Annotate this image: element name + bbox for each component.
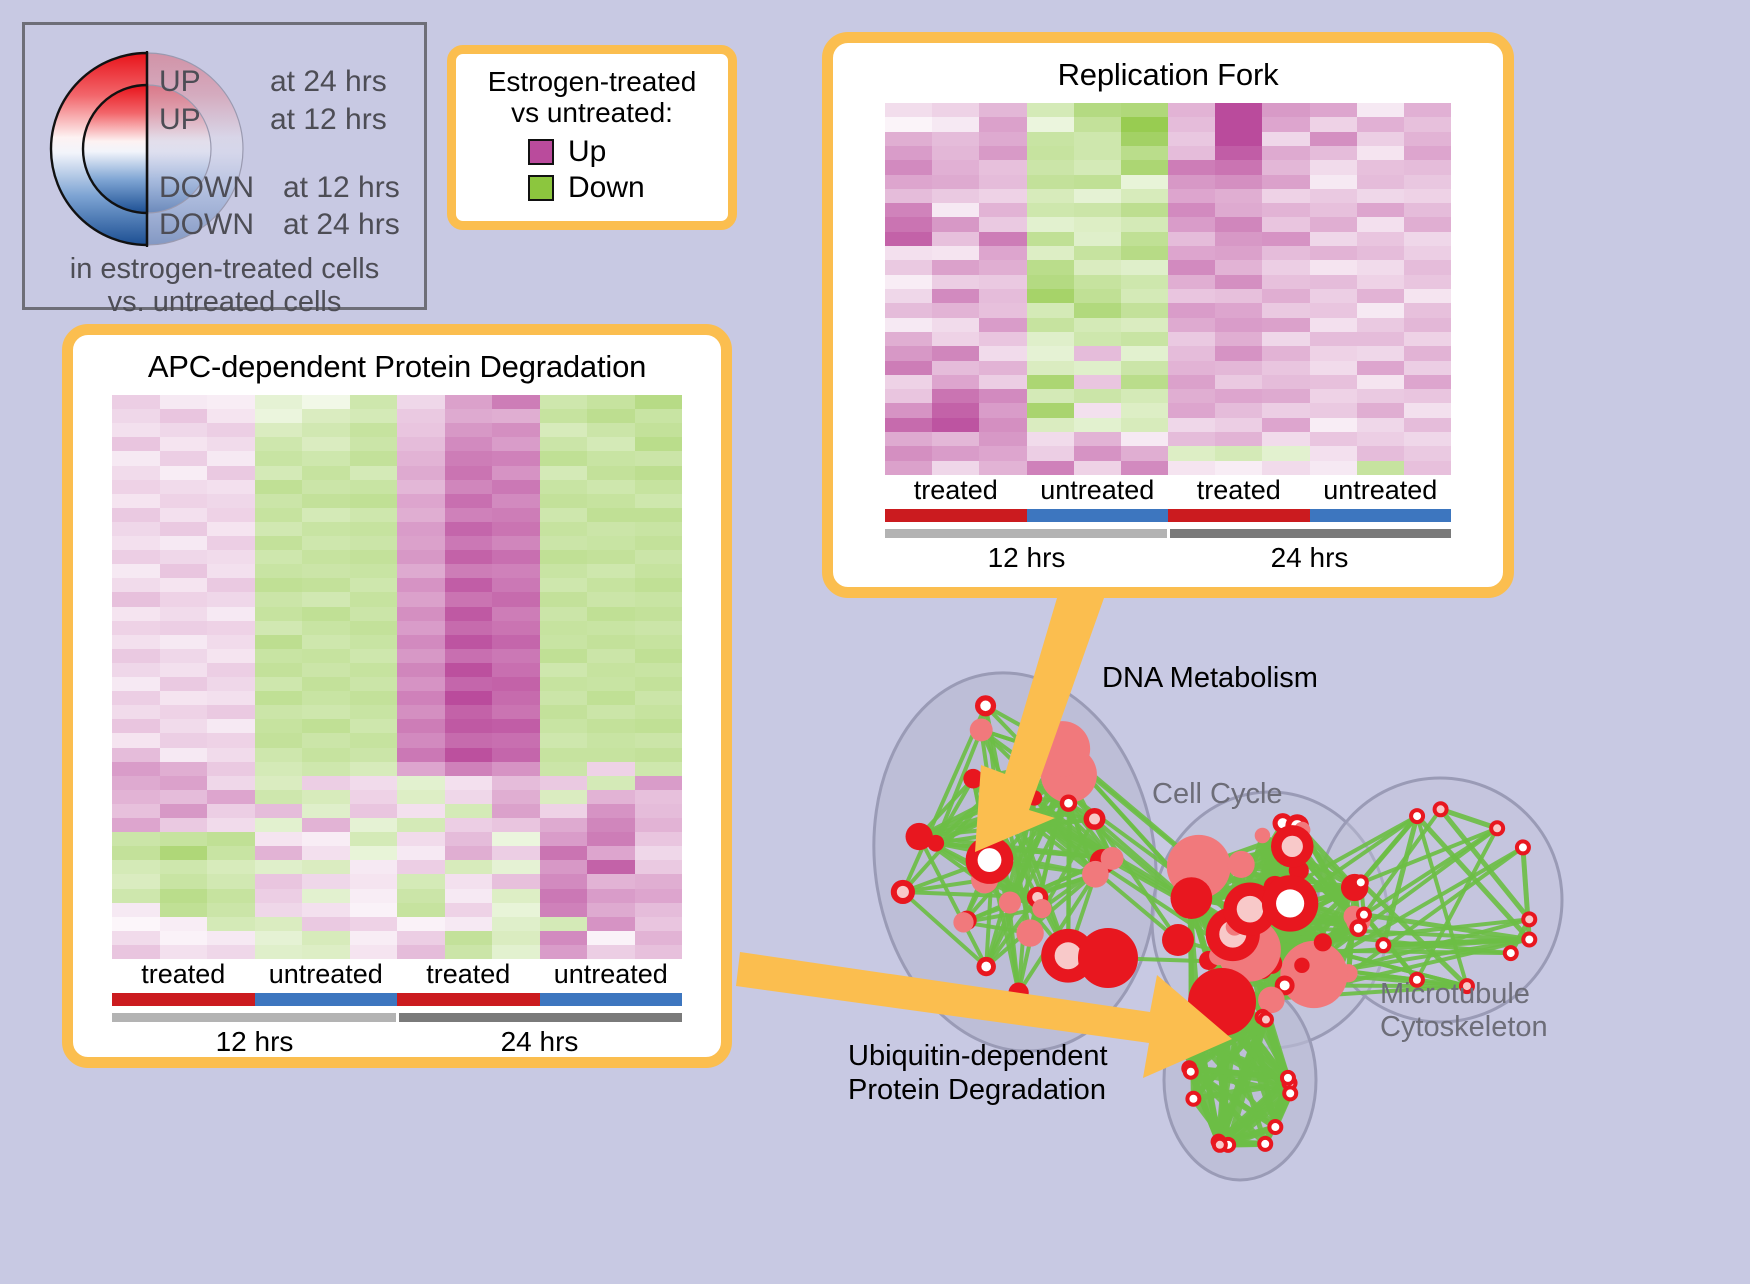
heatmap-cell: [350, 423, 398, 437]
heatmap-cell: [587, 621, 635, 635]
heatmap-cell: [302, 508, 350, 522]
heatmap-cell: [979, 418, 1026, 432]
heatmap-cell: [350, 522, 398, 536]
heatmap-cell: [350, 860, 398, 874]
heatmap-cell: [445, 691, 493, 705]
heatmap-replication-fork: [885, 103, 1451, 475]
heatmap-cell: [540, 578, 588, 592]
heatmap-cell: [255, 522, 303, 536]
heatmap-cell: [1404, 146, 1451, 160]
heatmap-cell: [635, 578, 683, 592]
heatmap-cell: [112, 945, 160, 959]
bar-time-12hrs: [112, 1013, 396, 1022]
heatmap-cell: [350, 733, 398, 747]
heatmap-cell: [255, 635, 303, 649]
heatmap-cell: [445, 804, 493, 818]
heatmap-cell: [635, 480, 683, 494]
heatmap-cell: [112, 536, 160, 550]
heatmap-cell: [587, 592, 635, 606]
heatmap-cell: [492, 522, 540, 536]
network-node-center: [980, 701, 991, 712]
heatmap-cell: [302, 621, 350, 635]
heatmap-cell: [1215, 432, 1262, 446]
heatmap-cell: [207, 846, 255, 860]
heatmap-cell: [979, 346, 1026, 360]
heatmap-cell: [587, 409, 635, 423]
heatmap-cell: [207, 762, 255, 776]
heatmap-cell: [1074, 389, 1121, 403]
heatmap-cell: [979, 203, 1026, 217]
updown-legend-items: Up Down: [470, 135, 714, 205]
heatmap-cell: [255, 804, 303, 818]
network-node: [983, 774, 1010, 801]
updown-title-line2: vs untreated:: [470, 97, 714, 128]
heatmap-cell: [492, 705, 540, 719]
axis-label-treated-24: treated: [397, 959, 540, 990]
heatmap-cell: [1310, 146, 1357, 160]
heatmap-cell: [932, 432, 979, 446]
axis-group-labels: treated untreated treated untreated: [885, 475, 1451, 506]
network-node: [1035, 721, 1090, 776]
heatmap-cell: [160, 804, 208, 818]
heatmap-cell: [1168, 117, 1215, 131]
network-node: [1228, 851, 1255, 878]
heatmap-cell: [635, 860, 683, 874]
network-node-center: [1357, 878, 1365, 886]
heatmap-cell: [540, 607, 588, 621]
heatmap-cell: [302, 663, 350, 677]
heatmap-cell: [255, 649, 303, 663]
heatmap-cell: [160, 522, 208, 536]
heatmap-cell: [932, 289, 979, 303]
heatmap-cell: [1357, 389, 1404, 403]
heatmap-cell: [1121, 189, 1168, 203]
heatmap-cell: [635, 733, 683, 747]
heatmap-cell: [1310, 189, 1357, 203]
heatmap-cell: [540, 719, 588, 733]
heatmap-cell: [160, 677, 208, 691]
heatmap-cell: [255, 564, 303, 578]
network-node-center: [1055, 942, 1082, 969]
heatmap-cell: [112, 649, 160, 663]
heatmap-cell: [397, 522, 445, 536]
bar-treated-12: [112, 993, 255, 1006]
heatmap-cell: [492, 423, 540, 437]
heatmap-cell: [445, 677, 493, 691]
heatmap-cell: [397, 635, 445, 649]
heatmap-cell: [397, 508, 445, 522]
heatmap-cell: [885, 418, 932, 432]
heatmap-cell: [932, 217, 979, 231]
bar-treated-24: [1168, 509, 1310, 522]
heatmap-cell: [932, 461, 979, 475]
color-scale-legend: UP at 24 hrs UP at 12 hrs DOWN at 12 hrs…: [22, 22, 427, 310]
heatmap-cell: [397, 550, 445, 564]
bar-time-12hrs: [885, 529, 1167, 538]
heatmap-cell: [1027, 418, 1074, 432]
heatmap-cell: [207, 508, 255, 522]
heatmap-cell: [635, 607, 683, 621]
heatmap-cell: [112, 395, 160, 409]
heatmap-cell: [587, 832, 635, 846]
heatmap-cell: [885, 403, 932, 417]
heatmap-cell: [302, 592, 350, 606]
heatmap-cell: [540, 917, 588, 931]
heatmap-cell: [1357, 403, 1404, 417]
heatmap-cell: [350, 790, 398, 804]
axis-label-untreated-24: untreated: [1310, 475, 1452, 506]
heatmap-cell: [302, 437, 350, 451]
axis-label-untreated-12: untreated: [255, 959, 398, 990]
up-color-swatch: [528, 139, 554, 165]
heatmap-cell: [1262, 403, 1309, 417]
heatmap-cell: [302, 776, 350, 790]
heatmap-cell: [540, 818, 588, 832]
heatmap-cell: [1215, 175, 1262, 189]
heatmap-cell: [302, 466, 350, 480]
heatmap-cell: [302, 889, 350, 903]
heatmap-cell: [255, 889, 303, 903]
heatmap-cell: [1310, 418, 1357, 432]
heatmap-cell: [540, 762, 588, 776]
heatmap-cell: [587, 437, 635, 451]
heatmap-cell: [492, 550, 540, 564]
heatmap-cell: [1404, 318, 1451, 332]
heatmap-cell: [587, 423, 635, 437]
heatmap-cell: [540, 635, 588, 649]
heatmap-cell: [1215, 375, 1262, 389]
heatmap-cell: [492, 945, 540, 959]
heatmap-cell: [492, 860, 540, 874]
heatmap-cell: [445, 889, 493, 903]
heatmap-cell: [885, 160, 932, 174]
heatmap-cell: [885, 260, 932, 274]
heatmap-cell: [160, 592, 208, 606]
heatmap-cell: [255, 748, 303, 762]
heatmap-cell: [540, 748, 588, 762]
heatmap-cell: [885, 332, 932, 346]
heatmap-cell: [1310, 346, 1357, 360]
heatmap-cell: [1168, 389, 1215, 403]
heatmap-cell: [302, 733, 350, 747]
heatmap-cell: [1027, 103, 1074, 117]
heatmap-cell: [207, 748, 255, 762]
heatmap-cell: [255, 846, 303, 860]
legend-item-down: Down: [528, 171, 714, 205]
heatmap-cell: [160, 719, 208, 733]
heatmap-cell: [1074, 189, 1121, 203]
heatmap-cell: [350, 931, 398, 945]
heatmap-cell: [932, 246, 979, 260]
axis-apc-degradation: treated untreated treated untreated 12 h…: [112, 959, 682, 1058]
heatmap-cell: [302, 945, 350, 959]
heatmap-cell: [255, 705, 303, 719]
heatmap-cell: [492, 663, 540, 677]
heatmap-cell: [1168, 203, 1215, 217]
heatmap-cell: [112, 423, 160, 437]
axis-time-labels: 12 hrs 24 hrs: [885, 542, 1451, 574]
heatmap-cell: [932, 132, 979, 146]
heatmap-cell: [445, 466, 493, 480]
heatmap-cell: [350, 804, 398, 818]
heatmap-cell: [932, 346, 979, 360]
heatmap-cell: [885, 103, 932, 117]
heatmap-cell: [1074, 132, 1121, 146]
heatmap-cell: [1168, 175, 1215, 189]
panel-apc-degradation: APC-dependent Protein Degradation treate…: [62, 324, 732, 1068]
heatmap-cell: [492, 804, 540, 818]
heatmap-cell: [587, 508, 635, 522]
heatmap-cell: [302, 451, 350, 465]
heatmap-cell: [540, 846, 588, 860]
bar-untreated-12: [255, 993, 398, 1006]
heatmap-cell: [255, 874, 303, 888]
heatmap-cell: [1357, 461, 1404, 475]
heatmap-cell: [979, 117, 1026, 131]
heatmap-cell: [540, 804, 588, 818]
up-down-legend-box: Estrogen-treated vs untreated: Up Down: [447, 45, 737, 230]
heatmap-cell: [160, 776, 208, 790]
heatmap-cell: [1168, 189, 1215, 203]
heatmap-cell: [635, 691, 683, 705]
heatmap-cell: [302, 423, 350, 437]
heatmap-cell: [885, 289, 932, 303]
heatmap-cell: [885, 446, 932, 460]
heatmap-cell: [492, 536, 540, 550]
network-node-center: [1286, 1089, 1294, 1097]
heatmap-cell: [885, 318, 932, 332]
heatmap-cell: [112, 677, 160, 691]
heatmap-cell: [302, 564, 350, 578]
heatmap-cell: [1310, 217, 1357, 231]
heatmap-cell: [255, 423, 303, 437]
heatmap-cell: [160, 762, 208, 776]
heatmap-cell: [1027, 260, 1074, 274]
network-node: [1008, 982, 1028, 1002]
heatmap-cell: [397, 423, 445, 437]
heatmap-cell: [587, 578, 635, 592]
network-node-center: [1089, 813, 1100, 824]
heatmap-cell: [112, 409, 160, 423]
heatmap-cell: [397, 607, 445, 621]
heatmap-cell: [350, 832, 398, 846]
heatmap-cell: [1121, 461, 1168, 475]
heatmap-cell: [1027, 146, 1074, 160]
heatmap-cell: [160, 832, 208, 846]
heatmap-cell: [1404, 103, 1451, 117]
heatmap-cell: [932, 103, 979, 117]
heatmap-cell: [445, 409, 493, 423]
heatmap-cell: [1262, 146, 1309, 160]
heatmap-cell: [540, 536, 588, 550]
heatmap-cell: [302, 790, 350, 804]
heatmap-cell: [635, 748, 683, 762]
heatmap-cell: [1168, 160, 1215, 174]
heatmap-cell: [1357, 246, 1404, 260]
heatmap-cell: [160, 917, 208, 931]
heatmap-cell: [885, 246, 932, 260]
network-node-center: [1280, 980, 1290, 990]
heatmap-cell: [635, 649, 683, 663]
heatmap-cell: [112, 917, 160, 931]
heatmap-cell: [397, 832, 445, 846]
heatmap-cell: [492, 649, 540, 663]
heatmap-cell: [1357, 217, 1404, 231]
heatmap-cell: [1357, 103, 1404, 117]
heatmap-cell: [1027, 175, 1074, 189]
heatmap-cell: [1027, 189, 1074, 203]
heatmap-cell: [979, 446, 1026, 460]
heatmap-cell: [207, 649, 255, 663]
heatmap-cell: [932, 332, 979, 346]
heatmap-cell: [540, 395, 588, 409]
heatmap-cell: [540, 832, 588, 846]
key-label-up-24hrs: UP: [159, 65, 201, 99]
heatmap-cell: [1168, 132, 1215, 146]
bar-treated-24: [397, 993, 540, 1006]
network-node-center: [1360, 911, 1368, 919]
heatmap-cell: [1121, 403, 1168, 417]
heatmap-cell: [885, 189, 932, 203]
heatmap-cell: [540, 564, 588, 578]
heatmap-cell: [492, 621, 540, 635]
heatmap-cell: [1121, 146, 1168, 160]
heatmap-cell: [1121, 332, 1168, 346]
heatmap-cell: [885, 146, 932, 160]
heatmap-cell: [1121, 289, 1168, 303]
network-node: [1294, 958, 1309, 973]
heatmap-cell: [635, 705, 683, 719]
heatmap-cell: [1357, 418, 1404, 432]
heatmap-cell: [1074, 146, 1121, 160]
heatmap-cell: [885, 361, 932, 375]
heatmap-cell: [445, 762, 493, 776]
heatmap-cell: [397, 889, 445, 903]
heatmap-cell: [1074, 246, 1121, 260]
heatmap-cell: [1404, 246, 1451, 260]
axis-label-untreated-12: untreated: [1027, 475, 1169, 506]
heatmap-cell: [540, 437, 588, 451]
legend-caption-line2: vs. untreated cells: [25, 286, 424, 319]
heatmap-cell: [397, 564, 445, 578]
heatmap-cell: [397, 437, 445, 451]
heatmap-cell: [1168, 275, 1215, 289]
cluster-label-ubiquitin-degradation: Ubiquitin-dependent Protein Degradation: [848, 1040, 1108, 1107]
heatmap-cell: [1074, 461, 1121, 475]
legend-item-up: Up: [528, 135, 714, 169]
heatmap-cell: [1310, 332, 1357, 346]
heatmap-cell: [1121, 203, 1168, 217]
heatmap-cell: [587, 494, 635, 508]
heatmap-cell: [1404, 303, 1451, 317]
network-node-center: [1261, 1140, 1269, 1148]
heatmap-cell: [1027, 403, 1074, 417]
heatmap-cell: [1168, 318, 1215, 332]
heatmap-cell: [1121, 217, 1168, 231]
heatmap-cell: [112, 592, 160, 606]
heatmap-cell: [1168, 432, 1215, 446]
heatmap-cell: [207, 663, 255, 677]
axis-label-untreated-24: untreated: [540, 959, 683, 990]
heatmap-cell: [1168, 246, 1215, 260]
bar-treated-12: [885, 509, 1027, 522]
heatmap-cell: [255, 917, 303, 931]
heatmap-cell: [112, 860, 160, 874]
heatmap-cell: [207, 931, 255, 945]
heatmap-cell: [587, 804, 635, 818]
heatmap-cell: [207, 395, 255, 409]
heatmap-cell: [1262, 375, 1309, 389]
heatmap-cell: [397, 451, 445, 465]
heatmap-cell: [397, 818, 445, 832]
heatmap-cell: [160, 649, 208, 663]
heatmap-cell: [112, 846, 160, 860]
heatmap-cell: [540, 423, 588, 437]
heatmap-cell: [1310, 461, 1357, 475]
heatmap-cell: [160, 451, 208, 465]
heatmap-cell: [635, 818, 683, 832]
heatmap-cell: [1074, 103, 1121, 117]
heatmap-cell: [540, 874, 588, 888]
heatmap-cell: [1215, 189, 1262, 203]
heatmap-cell: [1074, 318, 1121, 332]
heatmap-cell: [1215, 246, 1262, 260]
heatmap-cell: [1262, 203, 1309, 217]
heatmap-cell: [932, 418, 979, 432]
heatmap-cell: [397, 733, 445, 747]
heatmap-cell: [160, 790, 208, 804]
heatmap-cell: [255, 621, 303, 635]
heatmap-cell: [932, 361, 979, 375]
heatmap-cell: [112, 494, 160, 508]
heatmap-cell: [587, 790, 635, 804]
network-node-center: [1064, 799, 1073, 808]
heatmap-cell: [587, 536, 635, 550]
heatmap-cell: [587, 889, 635, 903]
heatmap-cell: [302, 917, 350, 931]
heatmap-cell: [1262, 446, 1309, 460]
network-node: [1280, 941, 1347, 1008]
heatmap-cell: [445, 945, 493, 959]
heatmap-cell: [255, 480, 303, 494]
heatmap-cell: [255, 607, 303, 621]
heatmap-cell: [302, 748, 350, 762]
heatmap-cell: [979, 103, 1026, 117]
heatmap-cell: [587, 846, 635, 860]
heatmap-cell: [397, 931, 445, 945]
network-node-center: [1010, 803, 1019, 812]
heatmap-cell: [1215, 146, 1262, 160]
heatmap-cell: [1168, 232, 1215, 246]
heatmap-cell: [445, 903, 493, 917]
heatmap-cell: [207, 874, 255, 888]
network-graph-svg: [760, 600, 1750, 1279]
heatmap-cell: [540, 409, 588, 423]
heatmap-cell: [302, 903, 350, 917]
heatmap-cell: [302, 607, 350, 621]
heatmap-cell: [932, 203, 979, 217]
heatmap-cell: [1168, 289, 1215, 303]
heatmap-cell: [445, 748, 493, 762]
heatmap-cell: [1168, 461, 1215, 475]
network-node-center: [1284, 1074, 1292, 1082]
heatmap-cell: [1310, 303, 1357, 317]
key-time-up-24hrs: at 24 hrs: [270, 65, 387, 99]
heatmap-cell: [635, 395, 683, 409]
heatmap-cell: [350, 649, 398, 663]
heatmap-cell: [1404, 446, 1451, 460]
heatmap-cell: [445, 790, 493, 804]
